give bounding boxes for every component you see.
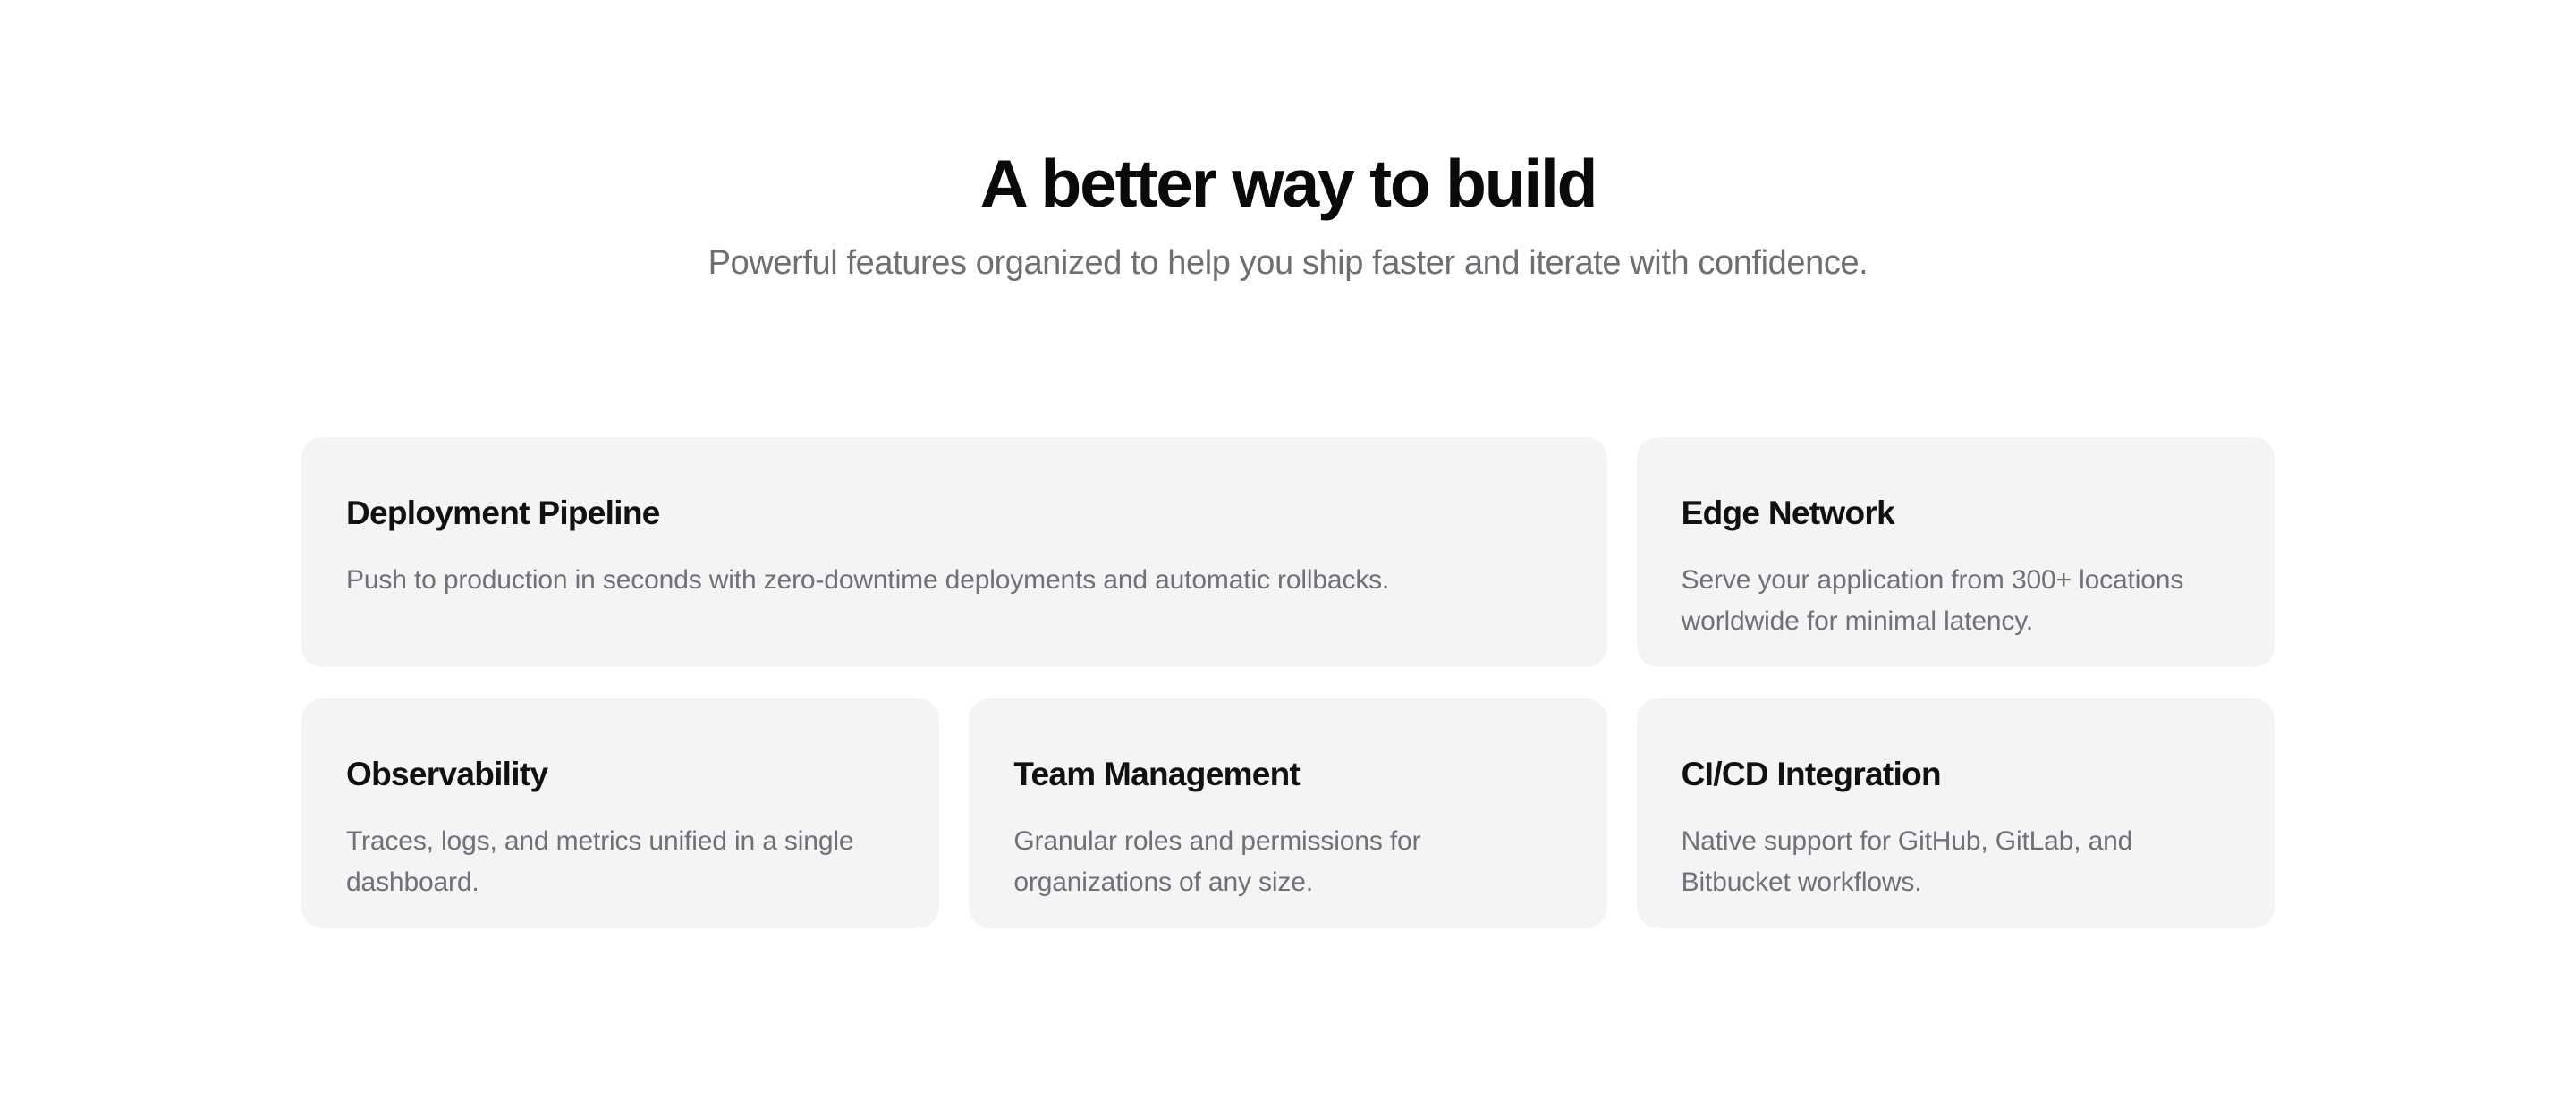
feature-card-description: Push to production in seconds with zero-… [346,529,1563,601]
feature-card-deployment-pipeline[interactable]: Deployment Pipeline Push to production i… [301,437,1607,667]
features-page: A better way to build Powerful features … [0,0,2576,1100]
feature-card-title: CI/CD Integration [1682,741,2230,791]
feature-card-title: Edge Network [1682,480,2230,529]
feature-card-title: Observability [346,741,894,791]
feature-card-edge-network[interactable]: Edge Network Serve your application from… [1637,437,2275,667]
feature-card-cicd-integration[interactable]: CI/CD Integration Native support for Git… [1637,698,2275,928]
section-header: A better way to build Powerful features … [0,0,2576,280]
feature-card-description: Serve your application from 300+ locatio… [1682,529,2230,641]
page-subtitle: Powerful features organized to help you … [0,217,2576,280]
feature-card-team-management[interactable]: Team Management Granular roles and permi… [969,698,1606,928]
feature-card-description: Granular roles and permissions for organ… [1013,791,1562,902]
feature-card-grid: Deployment Pipeline Push to production i… [301,437,2275,928]
page-title: A better way to build [0,150,2576,217]
feature-card-description: Traces, logs, and metrics unified in a s… [346,791,894,902]
feature-card-title: Team Management [1013,741,1562,791]
feature-card-title: Deployment Pipeline [346,480,1563,529]
feature-card-observability[interactable]: Observability Traces, logs, and metrics … [301,698,939,928]
feature-card-description: Native support for GitHub, GitLab, and B… [1682,791,2230,902]
